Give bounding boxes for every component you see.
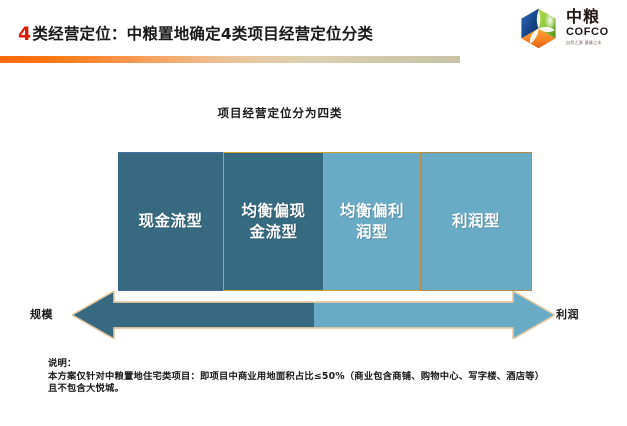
category-box-label: 现金流型 — [138, 211, 202, 232]
category-box[interactable]: 均衡偏利润型 — [323, 152, 420, 291]
axis-label-right: 利润 — [556, 306, 579, 322]
category-box-label: 均衡偏利润型 — [340, 201, 404, 243]
cofco-english-name: COFCO — [566, 26, 624, 39]
double-headed-arrow-icon — [72, 291, 555, 339]
scale-profit-arrow — [72, 291, 555, 339]
cofco-chinese-name: 中粮 — [566, 8, 624, 26]
category-box-label: 均衡偏现金流型 — [241, 201, 305, 243]
cofco-logo: 中粮 COFCO 自然之源 健康之本 — [516, 4, 624, 52]
cofco-tagline: 自然之源 健康之本 — [566, 39, 621, 46]
chart-subtitle: 项目经营定位分为四类 — [0, 105, 560, 121]
category-box[interactable]: 现金流型 — [118, 152, 223, 291]
footnote: 说明： 本方案仅针对中粮置地住宅类项目：即项目中商业用地面积占比≤50%（商业包… — [48, 358, 548, 396]
cofco-wordmark: 中粮 COFCO 自然之源 健康之本 — [566, 8, 624, 46]
page-title: 4类经营定位：中粮置地确定4类项目经营定位分类 — [18, 22, 373, 45]
slide-canvas: 4类经营定位：中粮置地确定4类项目经营定位分类 — [0, 0, 627, 426]
category-box[interactable]: 均衡偏现金流型 — [223, 152, 323, 291]
category-box[interactable]: 利润型 — [420, 152, 532, 291]
footnote-title: 说明： — [48, 358, 548, 371]
category-box-label: 利润型 — [452, 211, 500, 232]
page-title-accent-number: 4 — [18, 23, 31, 45]
axis-label-left: 规模 — [30, 306, 53, 322]
header-gradient-rule — [0, 56, 460, 63]
category-box-row: 现金流型均衡偏现金流型均衡偏利润型利润型 — [118, 152, 532, 291]
page-title-text: 类经营定位：中粮置地确定4类项目经营定位分类 — [32, 25, 373, 43]
cofco-cube-icon — [516, 6, 561, 51]
footnote-body: 本方案仅针对中粮置地住宅类项目：即项目中商业用地面积占比≤50%（商业包含商铺、… — [48, 371, 548, 396]
